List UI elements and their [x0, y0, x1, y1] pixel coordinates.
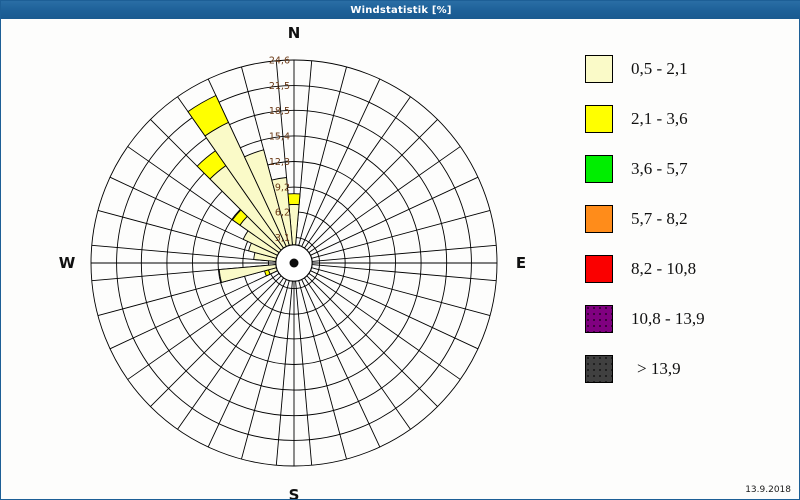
grid-spoke — [309, 273, 460, 379]
wind-statistics-window: Windstatistik [%] 3,16,29,212,315,418,52… — [0, 0, 800, 500]
grid-spoke — [92, 245, 276, 261]
legend-swatch — [585, 155, 613, 183]
radial-tick-label: 6,2 — [275, 207, 290, 218]
radial-tick-label: 3,1 — [275, 233, 290, 244]
grid-spoke — [150, 276, 281, 407]
grid-spoke — [310, 177, 478, 255]
legend-label: 8,2 - 10,8 — [631, 259, 696, 279]
legend-item[interactable]: 10,8 - 13,9 — [585, 294, 795, 344]
legend-label: 5,7 - 8,2 — [631, 209, 688, 229]
legend-swatch — [585, 355, 613, 383]
grid-spoke — [312, 265, 496, 281]
grid-spoke — [110, 271, 278, 349]
legend-item[interactable]: 3,6 - 5,7 — [585, 144, 795, 194]
radial-tick-label: 9,2 — [275, 183, 290, 194]
speed-legend: 0,5 - 2,12,1 - 3,63,6 - 5,75,7 - 8,28,2 … — [585, 44, 795, 394]
grid-spoke — [304, 97, 410, 248]
grid-spoke — [312, 245, 496, 261]
legend-label: 10,8 - 13,9 — [631, 309, 705, 329]
legend-swatch — [585, 105, 613, 133]
grid-spoke — [296, 281, 312, 465]
legend-swatch — [585, 205, 613, 233]
grid-spoke — [299, 281, 347, 460]
compass-label-east: E — [516, 254, 526, 272]
grid-spoke — [178, 278, 284, 429]
grid-spoke — [309, 147, 460, 253]
chart-canvas: 3,16,29,212,315,418,521,524,6NESW 0,5 - … — [2, 20, 799, 499]
grid-spoke — [312, 210, 491, 258]
grid-spoke — [307, 276, 438, 407]
grid-spoke — [307, 119, 438, 250]
radial-tick-label: 24,6 — [269, 56, 290, 67]
grid-spoke — [276, 281, 292, 465]
legend-swatch — [585, 255, 613, 283]
legend-item[interactable]: 0,5 - 2,1 — [585, 44, 795, 94]
grid-spoke — [302, 79, 380, 247]
grid-spoke — [304, 278, 410, 429]
grid-spoke — [310, 271, 478, 349]
window-title: Windstatistik [%] — [350, 5, 451, 16]
calm-center — [276, 245, 312, 281]
grid-spoke — [299, 67, 347, 246]
grid-spoke — [312, 268, 491, 316]
radial-tick-label: 18,5 — [269, 106, 290, 117]
radial-tick-label: 15,4 — [269, 131, 290, 142]
window-title-bar: Windstatistik [%] — [1, 1, 800, 19]
legend-item[interactable]: 2,1 - 3,6 — [585, 94, 795, 144]
radial-tick-label: 12,3 — [269, 157, 290, 168]
legend-swatch — [585, 305, 613, 333]
legend-label: > 13,9 — [637, 359, 681, 379]
date-stamp: 13.9.2018 — [745, 485, 791, 495]
grid-spoke — [302, 279, 380, 447]
legend-label: 2,1 - 3,6 — [631, 109, 688, 129]
legend-swatch — [585, 55, 613, 83]
legend-item[interactable]: 8,2 - 10,8 — [585, 244, 795, 294]
legend-label: 0,5 - 2,1 — [631, 59, 688, 79]
grid-spoke — [208, 279, 286, 447]
origin-dot — [290, 259, 299, 268]
grid-spoke — [241, 281, 289, 460]
grid-spoke — [128, 273, 279, 379]
legend-item[interactable]: 5,7 - 8,2 — [585, 194, 795, 244]
legend-item[interactable]: > 13,9 — [585, 344, 795, 394]
radial-tick-label: 21,5 — [269, 81, 290, 92]
compass-label-south: S — [289, 486, 300, 499]
legend-label: 3,6 - 5,7 — [631, 159, 688, 179]
compass-label-north: N — [288, 24, 301, 42]
petal-segment — [288, 194, 300, 205]
compass-label-west: W — [59, 254, 76, 272]
